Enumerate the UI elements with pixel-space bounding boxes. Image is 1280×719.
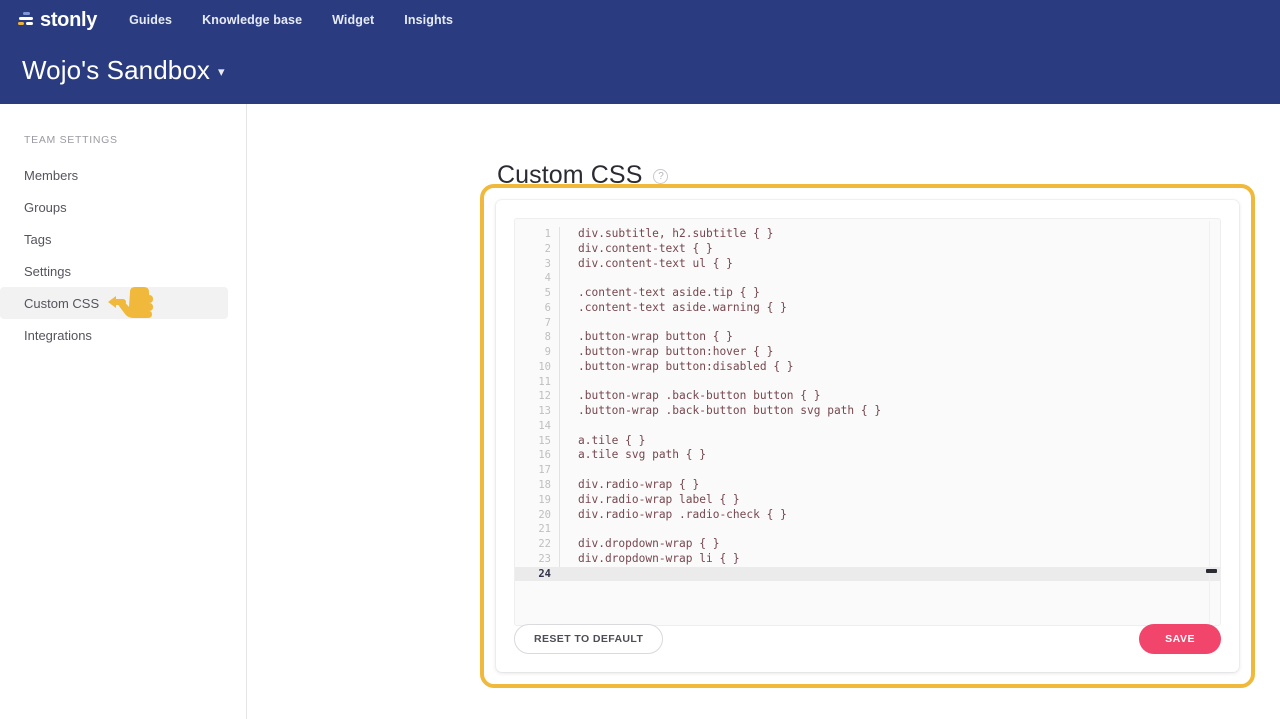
line-number: 5 <box>515 286 559 301</box>
line-number: 20 <box>515 508 559 523</box>
line-number: 12 <box>515 389 559 404</box>
line-number: 21 <box>515 522 559 537</box>
gutter-divider <box>559 316 560 331</box>
main-nav: Guides Knowledge base Widget Insights <box>129 13 453 27</box>
code-line[interactable]: 13.button-wrap .back-button button svg p… <box>515 404 1220 419</box>
code-line[interactable]: 7 <box>515 316 1220 331</box>
line-number: 13 <box>515 404 559 419</box>
code-text: div.subtitle, h2.subtitle { } <box>560 227 1220 242</box>
gutter-divider <box>559 271 560 286</box>
code-line[interactable]: 2div.content-text { } <box>515 242 1220 257</box>
sidebar-item-integrations[interactable]: Integrations <box>0 319 228 351</box>
code-line[interactable]: 5.content-text aside.tip { } <box>515 286 1220 301</box>
top-navigation-bar: stonly Guides Knowledge base Widget Insi… <box>0 0 1280 40</box>
workspace-title: Wojo's Sandbox <box>22 56 210 85</box>
code-lines-container: 1div.subtitle, h2.subtitle { }2div.conte… <box>515 219 1220 625</box>
code-text: .button-wrap button:hover { } <box>560 345 1220 360</box>
save-button[interactable]: SAVE <box>1139 624 1221 654</box>
code-line[interactable]: 16a.tile svg path { } <box>515 448 1220 463</box>
code-text: a.tile svg path { } <box>560 448 1220 463</box>
brand-name: stonly <box>40 10 97 30</box>
code-line[interactable]: 15a.tile { } <box>515 434 1220 449</box>
sidebar-item-tags[interactable]: Tags <box>0 223 228 255</box>
gutter-divider <box>559 567 560 582</box>
settings-sidebar: TEAM SETTINGS Members Groups Tags Settin… <box>0 104 247 719</box>
gutter-divider <box>559 522 560 537</box>
code-line[interactable]: 3div.content-text ul { } <box>515 257 1220 272</box>
code-text: .content-text aside.tip { } <box>560 286 1220 301</box>
code-line[interactable]: 22div.dropdown-wrap { } <box>515 537 1220 552</box>
code-line[interactable]: 21 <box>515 522 1220 537</box>
line-number: 9 <box>515 345 559 360</box>
line-number: 16 <box>515 448 559 463</box>
line-number: 3 <box>515 257 559 272</box>
code-line[interactable]: 9.button-wrap button:hover { } <box>515 345 1220 360</box>
help-icon[interactable]: ? <box>653 169 668 184</box>
code-line[interactable]: 17 <box>515 463 1220 478</box>
sidebar-item-label: Settings <box>24 265 71 278</box>
reset-to-default-button[interactable]: RESET TO DEFAULT <box>514 624 663 654</box>
page-title-row: Custom CSS ? <box>497 146 668 205</box>
editor-vertical-scrollbar[interactable] <box>1209 221 1217 623</box>
sidebar-item-groups[interactable]: Groups <box>0 191 228 223</box>
code-line[interactable]: 20div.radio-wrap .radio-check { } <box>515 508 1220 523</box>
stonly-stack-logo-icon <box>18 12 34 29</box>
line-number: 6 <box>515 301 559 316</box>
code-line[interactable]: 19div.radio-wrap label { } <box>515 493 1220 508</box>
code-line[interactable]: 1div.subtitle, h2.subtitle { } <box>515 227 1220 242</box>
code-text: div.radio-wrap label { } <box>560 493 1220 508</box>
nav-item-widget[interactable]: Widget <box>332 13 374 27</box>
line-number: 17 <box>515 463 559 478</box>
code-text: .content-text aside.warning { } <box>560 301 1220 316</box>
code-text: .button-wrap button { } <box>560 330 1220 345</box>
code-line[interactable]: 24 <box>515 567 1220 582</box>
code-text: div.dropdown-wrap { } <box>560 537 1220 552</box>
gutter-divider <box>559 375 560 390</box>
line-number: 1 <box>515 227 559 242</box>
line-number: 15 <box>515 434 559 449</box>
line-number: 4 <box>515 271 559 286</box>
card-footer: RESET TO DEFAULT SAVE <box>514 624 1221 654</box>
sidebar-item-custom-css[interactable]: Custom CSS <box>0 287 228 319</box>
code-text: a.tile { } <box>560 434 1220 449</box>
code-text: div.content-text { } <box>560 242 1220 257</box>
code-line[interactable]: 14 <box>515 419 1220 434</box>
line-number: 22 <box>515 537 559 552</box>
sidebar-item-settings[interactable]: Settings <box>0 255 228 287</box>
code-text: .button-wrap .back-button button { } <box>560 389 1220 404</box>
line-number: 10 <box>515 360 559 375</box>
sidebar-item-label: Groups <box>24 201 67 214</box>
code-line[interactable]: 11 <box>515 375 1220 390</box>
code-text: div.radio-wrap .radio-check { } <box>560 508 1220 523</box>
code-line[interactable]: 12.button-wrap .back-button button { } <box>515 389 1220 404</box>
sidebar-item-label: Members <box>24 169 78 182</box>
code-line[interactable]: 4 <box>515 271 1220 286</box>
brand-logo[interactable]: stonly <box>18 7 97 33</box>
custom-css-card: 1div.subtitle, h2.subtitle { }2div.conte… <box>496 200 1239 672</box>
code-text: div.dropdown-wrap li { } <box>560 552 1220 567</box>
page-title: Custom CSS <box>497 163 642 188</box>
code-text: .button-wrap .back-button button svg pat… <box>560 404 1220 419</box>
nav-item-insights[interactable]: Insights <box>404 13 453 27</box>
sidebar-item-label: Tags <box>24 233 51 246</box>
line-number: 19 <box>515 493 559 508</box>
code-line[interactable]: 23div.dropdown-wrap li { } <box>515 552 1220 567</box>
sidebar-heading: TEAM SETTINGS <box>24 134 246 146</box>
line-number: 2 <box>515 242 559 257</box>
css-code-editor[interactable]: 1div.subtitle, h2.subtitle { }2div.conte… <box>514 218 1221 626</box>
gutter-divider <box>559 419 560 434</box>
line-number: 24 <box>515 567 559 582</box>
nav-item-guides[interactable]: Guides <box>129 13 172 27</box>
code-line[interactable]: 18div.radio-wrap { } <box>515 478 1220 493</box>
workspace-switcher[interactable]: Wojo's Sandbox ▾ <box>22 56 225 85</box>
line-number: 8 <box>515 330 559 345</box>
code-line[interactable]: 10.button-wrap button:disabled { } <box>515 360 1220 375</box>
gutter-divider <box>559 463 560 478</box>
line-number: 7 <box>515 316 559 331</box>
line-number: 11 <box>515 375 559 390</box>
app-header: stonly Guides Knowledge base Widget Insi… <box>0 0 1280 104</box>
chevron-down-icon: ▾ <box>218 65 225 78</box>
line-number: 23 <box>515 552 559 567</box>
sidebar-list: Members Groups Tags Settings Custom CSS … <box>0 159 246 351</box>
nav-item-knowledge-base[interactable]: Knowledge base <box>202 13 302 27</box>
editor-scrollbar-thumb[interactable] <box>1206 569 1217 573</box>
main-content: Custom CSS ? 1div.subtitle, h2.subtitle … <box>248 104 1280 719</box>
code-line[interactable]: 8.button-wrap button { } <box>515 330 1220 345</box>
code-text: div.content-text ul { } <box>560 257 1220 272</box>
sidebar-item-members[interactable]: Members <box>0 159 228 191</box>
sidebar-item-label: Custom CSS <box>24 297 99 310</box>
line-number: 18 <box>515 478 559 493</box>
code-text: .button-wrap button:disabled { } <box>560 360 1220 375</box>
sidebar-item-label: Integrations <box>24 329 92 342</box>
code-text: div.radio-wrap { } <box>560 478 1220 493</box>
code-line[interactable]: 6.content-text aside.warning { } <box>515 301 1220 316</box>
line-number: 14 <box>515 419 559 434</box>
